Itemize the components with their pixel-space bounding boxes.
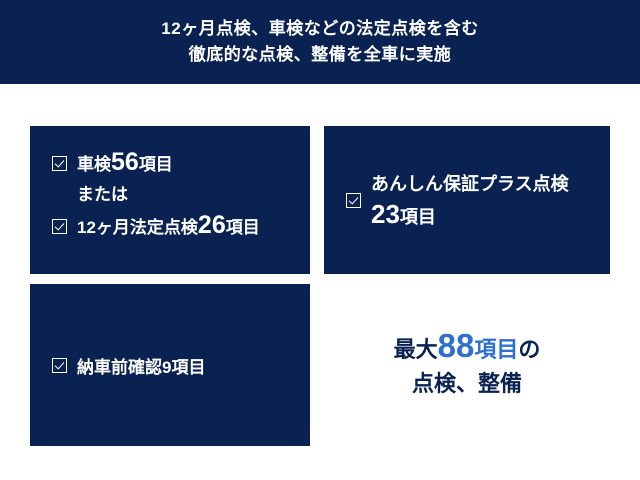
checkbox-icon [346,193,361,208]
predelivery-text: 納車前確認9項目 [77,353,205,378]
inspection-row-12month: 12ヶ月法定点検26項目 [52,215,310,238]
summary-line-2: 点検、整備 [412,367,522,401]
card-warranty-inner: あんしん保証プラス点検 23項目 [324,169,569,232]
checkbox-icon [52,219,67,234]
inspection-row-or: または [52,185,310,205]
warranty-line-1: あんしん保証プラス点検 [371,169,569,199]
checkbox-icon [52,358,67,373]
inspection-row-shaken: 車検56項目 [52,152,310,175]
header-banner: 12ヶ月点検、車検などの法定点検を含む 徹底的な点検、整備を全車に実施 [0,0,640,84]
inspection-row-or-text: または [77,185,128,205]
card-inspection: 車検56項目 または 12ヶ月法定点検26項目 [30,126,310,274]
header-line-1: 12ヶ月点検、車検などの法定点検を含む [161,16,478,42]
infographic-page: 12ヶ月点検、車検などの法定点検を含む 徹底的な点検、整備を全車に実施 車検56… [0,0,640,480]
summary-unit: 項目 [474,337,518,362]
card-warranty: あんしん保証プラス点検 23項目 [324,126,610,274]
warranty-line-2: 23項目 [371,199,569,232]
summary-line-1: 最大88項目の [394,329,541,367]
inspection-row-shaken-text: 車検56項目 [77,152,173,175]
card-predelivery: 納車前確認9項目 [30,284,310,446]
inspection-row-12month-text: 12ヶ月法定点検26項目 [77,215,260,238]
checkbox-icon [52,156,67,171]
card-warranty-text: あんしん保証プラス点検 23項目 [371,169,569,232]
card-predelivery-inner: 納車前確認9項目 [30,353,205,378]
header-line-2: 徹底的な点検、整備を全車に実施 [189,42,452,68]
summary-total: 最大88項目の 点検、整備 [324,284,610,446]
summary-number: 88 [438,327,475,364]
